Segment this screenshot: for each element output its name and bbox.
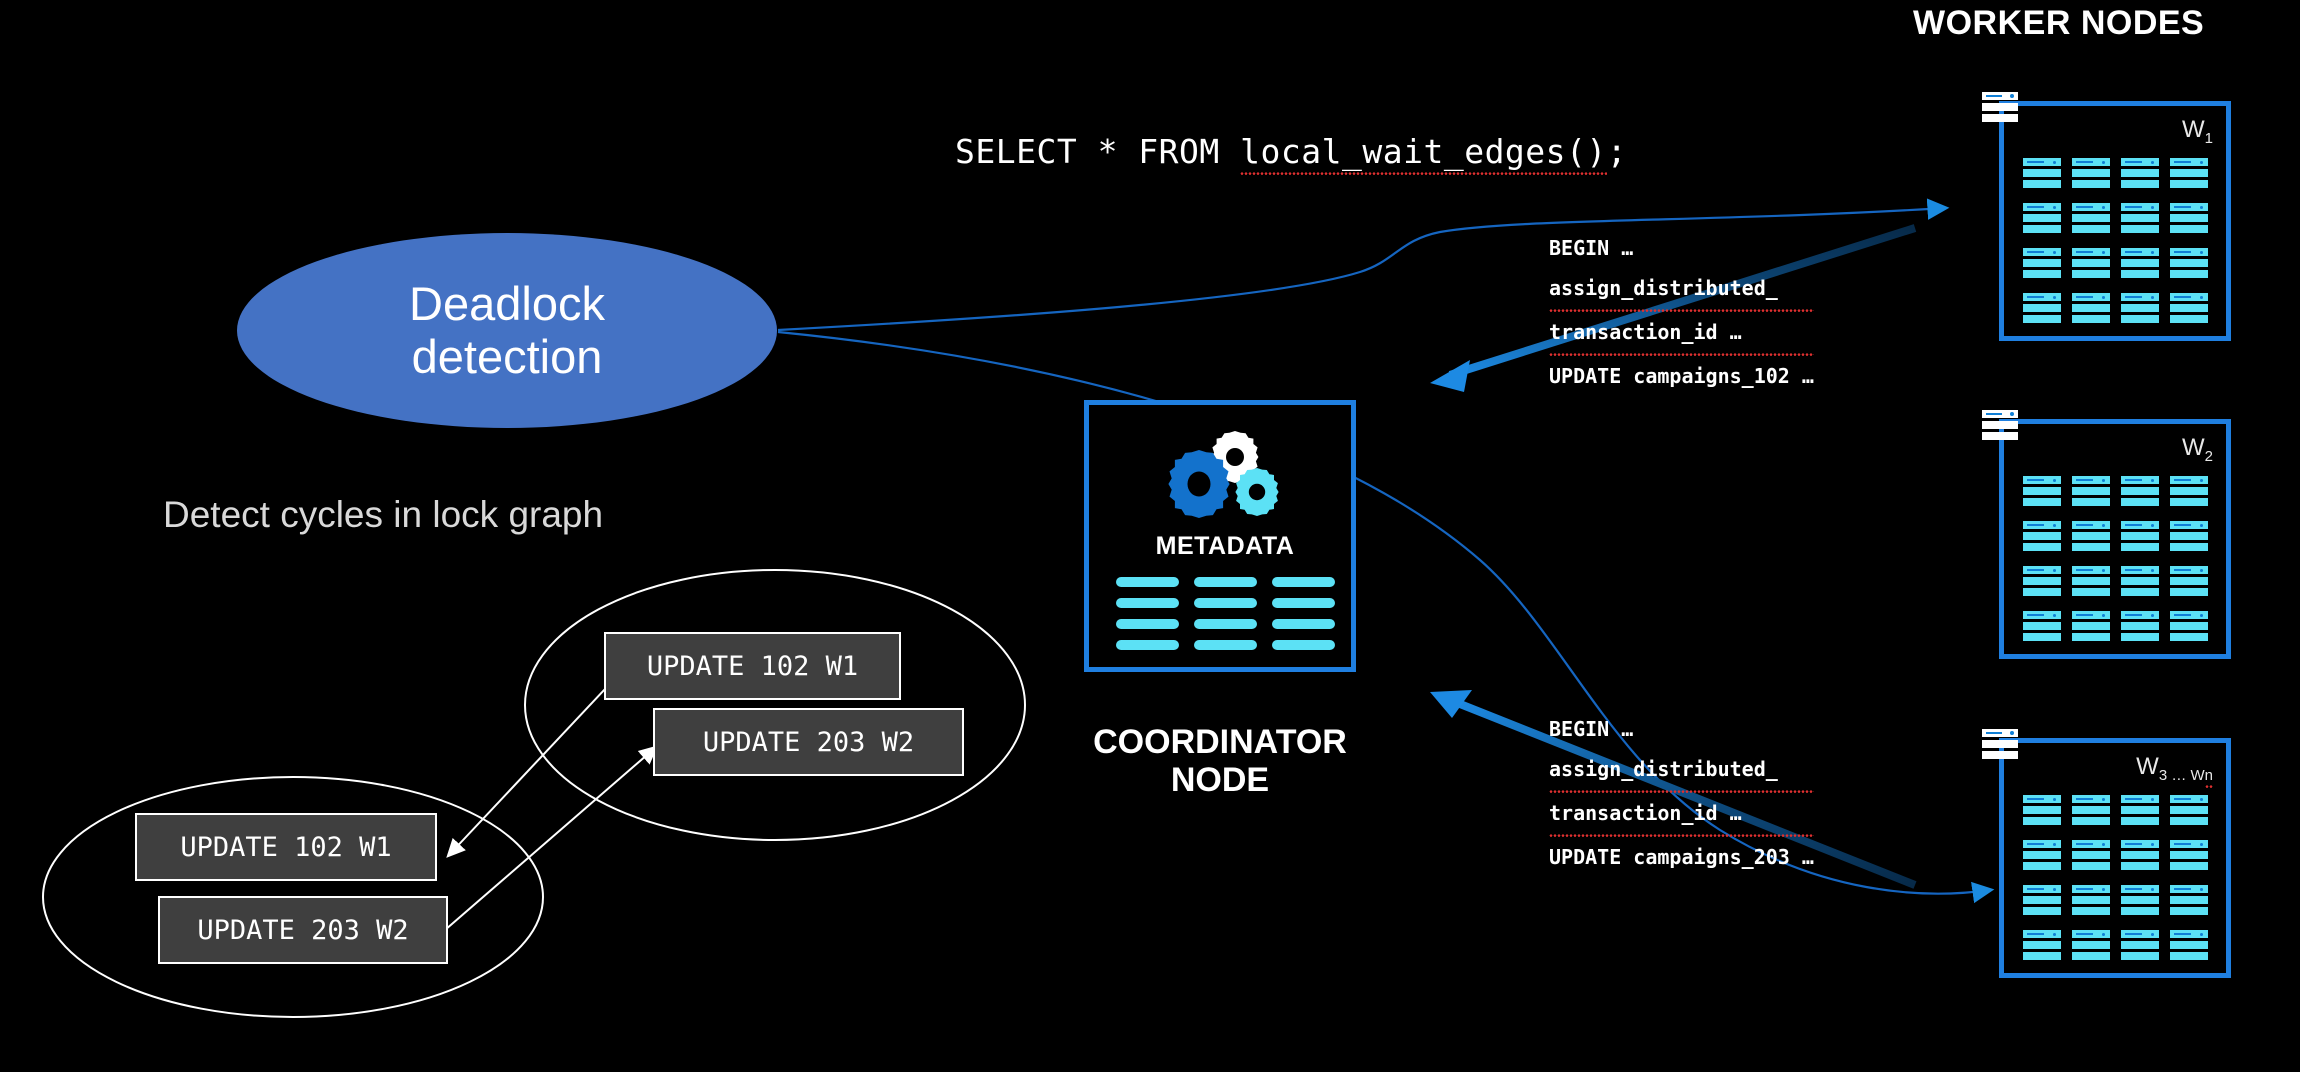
server-icon xyxy=(2023,158,2061,191)
server-icon xyxy=(2023,203,2061,236)
server-icon xyxy=(2023,566,2061,599)
server-grid xyxy=(2004,476,2226,644)
server-icon xyxy=(2170,795,2208,828)
worker-node-1[interactable]: W1 xyxy=(1999,101,2231,341)
server-icon xyxy=(2170,293,2208,326)
worker-node-2[interactable]: W2 xyxy=(1999,419,2231,659)
sql-prefix: SELECT * FROM xyxy=(955,132,1240,171)
metadata-bar xyxy=(1272,598,1335,608)
server-grid xyxy=(2004,158,2226,326)
lock-graph-box[interactable]: UPDATE 203 W2 xyxy=(653,708,964,776)
worker-label-text: W xyxy=(2136,753,2159,780)
server-icon xyxy=(2170,521,2208,554)
server-icon xyxy=(2072,203,2110,236)
server-badge-icon xyxy=(1982,92,2018,125)
server-grid xyxy=(2004,795,2226,963)
server-icon xyxy=(2023,840,2061,873)
worker-label-sub2: n xyxy=(2205,767,2213,788)
worker-label-sub: 1 xyxy=(2205,130,2213,147)
txn-line: UPDATE campaigns_102 … xyxy=(1549,356,1814,396)
server-icon xyxy=(2072,158,2110,191)
metadata-label: METADATA xyxy=(1089,532,1361,561)
server-icon xyxy=(2170,248,2208,281)
txn-line: assign_distributed_ xyxy=(1549,268,1814,312)
lock-graph-box[interactable]: UPDATE 102 W1 xyxy=(135,813,437,881)
deadlock-label-line2: detection xyxy=(412,330,603,383)
coordinator-node-title: COORDINATOR NODE xyxy=(1055,723,1385,799)
deadlock-detection-label: Deadlock detection xyxy=(409,278,605,383)
metadata-bar-column xyxy=(1116,577,1179,650)
txn-line: BEGIN … xyxy=(1549,228,1814,268)
server-badge-icon xyxy=(1982,729,2018,762)
worker-label-sub: 2 xyxy=(2205,448,2213,465)
diagram-canvas: WORKER NODES COORDINATOR NODE Deadlock d… xyxy=(0,0,2300,1072)
transaction-snippet-102: BEGIN … assign_distributed_ transaction_… xyxy=(1549,228,1814,396)
server-icon xyxy=(2072,521,2110,554)
coordinator-title-line2: NODE xyxy=(1055,761,1385,799)
server-icon xyxy=(2170,840,2208,873)
detect-cycles-caption: Detect cycles in lock graph xyxy=(163,494,603,536)
server-icon xyxy=(2121,293,2159,326)
worker-node-3-label: W3 … Wn xyxy=(2136,753,2213,784)
lock-graph-box[interactable]: UPDATE 102 W1 xyxy=(604,632,901,700)
server-icon xyxy=(2121,476,2159,509)
server-icon xyxy=(2072,566,2110,599)
server-icon xyxy=(2023,930,2061,963)
server-icon xyxy=(2121,158,2159,191)
txn-line: assign_distributed_ xyxy=(1549,749,1814,793)
metadata-bar xyxy=(1194,598,1257,608)
gear-cyan-icon xyxy=(1235,468,1278,516)
server-icon xyxy=(2072,840,2110,873)
worker-label-text: W xyxy=(2182,434,2205,461)
metadata-bars xyxy=(1089,577,1361,650)
metadata-bar xyxy=(1116,640,1179,650)
server-icon xyxy=(2072,930,2110,963)
server-icon xyxy=(2121,885,2159,918)
server-icon xyxy=(2170,203,2208,236)
server-icon xyxy=(2170,158,2208,191)
coordinator-title-line1: COORDINATOR xyxy=(1055,723,1385,761)
metadata-bar xyxy=(1194,619,1257,629)
server-icon xyxy=(2121,521,2159,554)
metadata-bar-column xyxy=(1194,577,1257,650)
server-icon xyxy=(2121,611,2159,644)
txn-line: BEGIN … xyxy=(1549,709,1814,749)
lock-graph-box[interactable]: UPDATE 203 W2 xyxy=(158,896,448,964)
worker-node-2-label: W2 xyxy=(2182,434,2213,465)
server-icon xyxy=(2121,566,2159,599)
server-icon xyxy=(2121,795,2159,828)
server-icon xyxy=(2023,795,2061,828)
server-icon xyxy=(2170,476,2208,509)
server-icon xyxy=(2170,566,2208,599)
worker-label-sub: 3 … W xyxy=(2159,767,2205,784)
txn-line: transaction_id … xyxy=(1549,793,1814,837)
server-icon xyxy=(2072,611,2110,644)
server-icon xyxy=(2023,521,2061,554)
lock-cycle-ellipse-upper xyxy=(525,570,1025,840)
server-icon xyxy=(2072,795,2110,828)
server-icon xyxy=(2121,930,2159,963)
server-icon xyxy=(2023,248,2061,281)
sql-suffix: ; xyxy=(1607,132,1627,171)
server-icon xyxy=(2072,293,2110,326)
metadata-bar xyxy=(1116,598,1179,608)
arrow-cycle-up-right xyxy=(445,748,655,930)
metadata-bar xyxy=(1116,619,1179,629)
worker-node-1-label: W1 xyxy=(2182,116,2213,147)
metadata-bar xyxy=(1194,640,1257,650)
server-icon xyxy=(2170,930,2208,963)
coordinator-node[interactable]: METADATA xyxy=(1084,400,1356,672)
worker-nodes-title: WORKER NODES xyxy=(1913,4,2204,43)
server-icon xyxy=(2023,611,2061,644)
metadata-bar xyxy=(1116,577,1179,587)
server-icon xyxy=(2121,840,2159,873)
server-icon xyxy=(2072,885,2110,918)
deadlock-detection-node[interactable]: Deadlock detection xyxy=(237,233,777,428)
server-icon xyxy=(2072,476,2110,509)
sql-function-name: local_wait_edges() xyxy=(1240,132,1607,175)
server-icon xyxy=(2072,248,2110,281)
worker-label-text: W xyxy=(2182,116,2205,143)
gear-blue-icon xyxy=(1168,450,1229,518)
server-badge-icon xyxy=(1982,410,2018,443)
gears-icon xyxy=(1089,429,1361,521)
metadata-bar xyxy=(1272,577,1335,587)
server-icon xyxy=(2170,611,2208,644)
metadata-bar-column xyxy=(1272,577,1335,650)
server-icon xyxy=(2121,203,2159,236)
worker-node-3[interactable]: W3 … Wn xyxy=(1999,738,2231,978)
server-icon xyxy=(2023,293,2061,326)
metadata-bar xyxy=(1272,640,1335,650)
sql-query-text: SELECT * FROM local_wait_edges(); xyxy=(955,132,1627,171)
txn-line: UPDATE campaigns_203 … xyxy=(1549,837,1814,877)
server-icon xyxy=(2121,248,2159,281)
server-icon xyxy=(2023,476,2061,509)
metadata-bar xyxy=(1194,577,1257,587)
transaction-snippet-203: BEGIN … assign_distributed_ transaction_… xyxy=(1549,709,1814,877)
deadlock-label-line1: Deadlock xyxy=(409,277,605,330)
server-icon xyxy=(2170,885,2208,918)
txn-line: transaction_id … xyxy=(1549,312,1814,356)
metadata-bar xyxy=(1272,619,1335,629)
server-icon xyxy=(2023,885,2061,918)
